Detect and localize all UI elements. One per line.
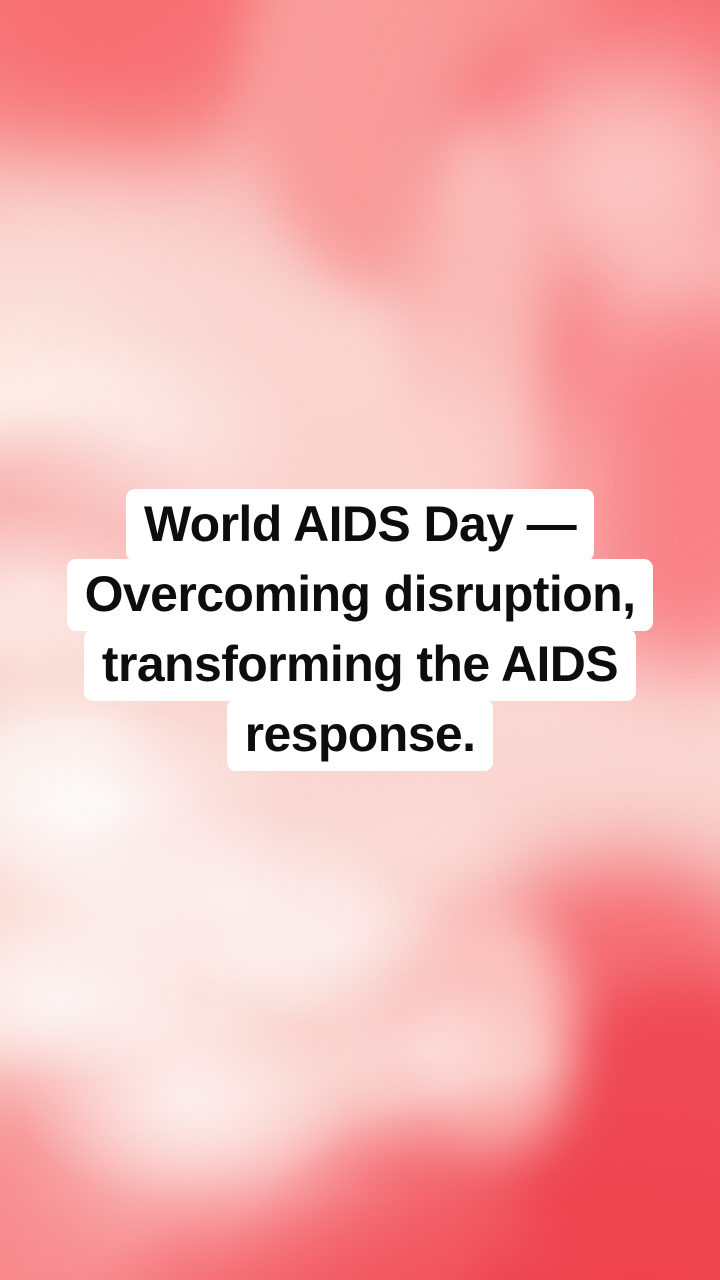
caption-line-4[interactable]: response. (227, 699, 494, 771)
caption-line-2[interactable]: Overcoming disruption, (67, 559, 654, 631)
graphic-canvas: World AIDS Day — Overcoming disruption, … (0, 0, 720, 1280)
caption-line-1[interactable]: World AIDS Day — (126, 489, 594, 561)
caption-line-3[interactable]: transforming the AIDS (84, 629, 636, 701)
